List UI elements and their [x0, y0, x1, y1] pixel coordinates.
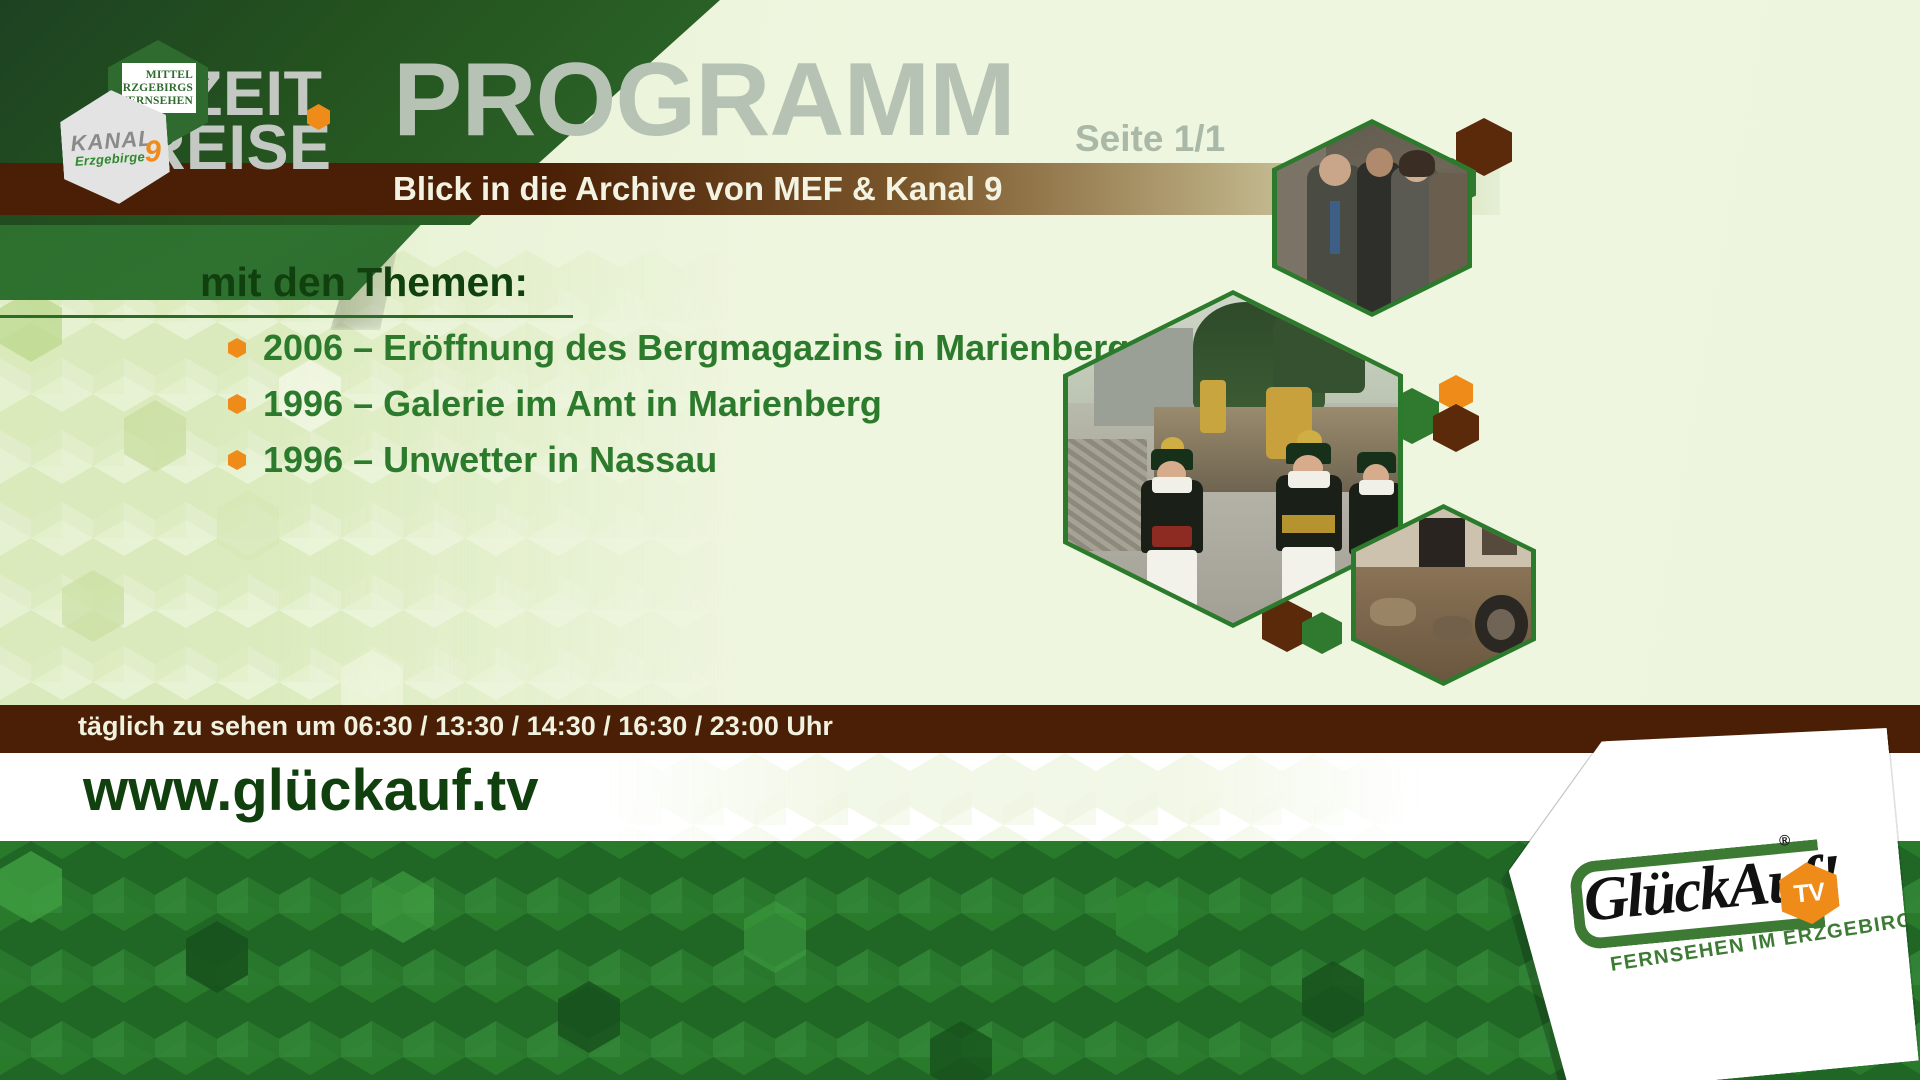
list-item: 2006 – Eröffnung des Bergmagazins in Mar…	[228, 330, 1129, 366]
page-title: PROGRAMM	[393, 48, 1015, 152]
list-item-label: 2006 – Eröffnung des Bergmagazins in Mar…	[263, 330, 1129, 366]
bullet-hexagon-icon	[228, 450, 246, 470]
themes-heading-underline	[0, 315, 573, 318]
themes-heading-block: mit den Themen:	[0, 262, 1060, 318]
mef-line-2: ERZGEBIRGS	[115, 82, 193, 95]
list-item: 1996 – Galerie im Amt in Marienberg	[228, 386, 1129, 422]
subtitle-text: Blick in die Archive von MEF & Kanal 9	[393, 172, 1002, 205]
list-item-label: 1996 – Unwetter in Nassau	[263, 442, 717, 478]
registered-trademark-icon: ®	[1778, 832, 1791, 850]
bullet-hexagon-icon	[228, 394, 246, 414]
schedule-text: täglich zu sehen um 06:30 / 13:30 / 14:3…	[78, 713, 833, 740]
list-item: 1996 – Unwetter in Nassau	[228, 442, 1129, 478]
bullet-hexagon-icon	[228, 338, 246, 358]
kanal9-number: 9	[143, 137, 162, 168]
page-indicator: Seite 1/1	[1075, 120, 1225, 157]
list-item-label: 1996 – Galerie im Amt in Marienberg	[263, 386, 882, 422]
logo-tv-label: TV	[1793, 879, 1826, 907]
website-url[interactable]: www.glückauf.tv	[83, 762, 538, 820]
broadcast-slide: ZEIT REISE MITTEL ERZGEBIRGS FERNSEHEN K…	[0, 0, 1920, 1080]
honeycomb-pattern-strip	[600, 753, 1420, 841]
mef-line-1: MITTEL	[146, 69, 193, 82]
topics-list: 2006 – Eröffnung des Bergmagazins in Mar…	[228, 330, 1129, 498]
themes-heading: mit den Themen:	[200, 262, 528, 313]
